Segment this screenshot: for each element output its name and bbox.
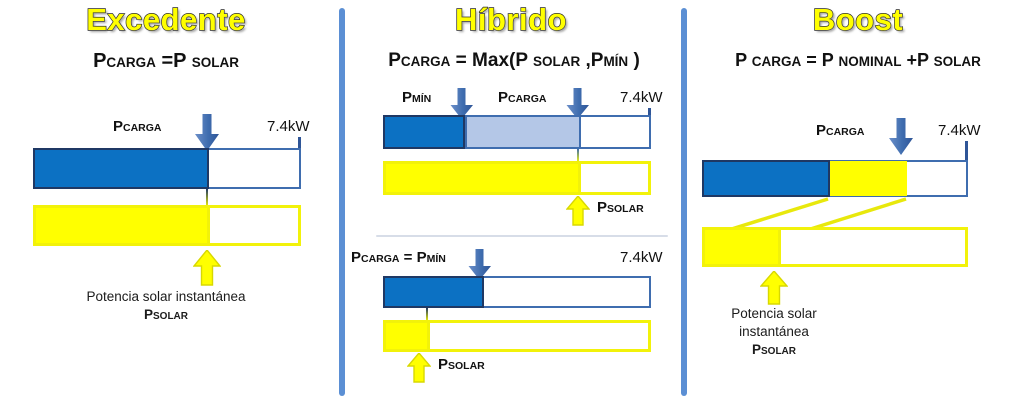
arrow-down-icon-boost xyxy=(888,118,914,156)
caption-psolar-sub: SOLAR xyxy=(153,311,188,322)
label-sub: CARGA xyxy=(508,93,547,105)
label-pcarga-excedente: PCARGA xyxy=(113,118,162,135)
caption-psolar-text: P xyxy=(144,307,153,322)
label-pcarga-hibrido: PCARGA xyxy=(498,89,547,106)
bar-yellow-fill xyxy=(33,205,210,246)
label-text: P xyxy=(113,118,123,135)
bar-bottom-boost xyxy=(702,227,968,267)
formula-mid: = Max(P xyxy=(450,50,533,71)
formula-boost: P CARGA = P NOMINAL +P SOLAR xyxy=(688,50,1028,71)
bar-yellow-fill xyxy=(383,161,581,195)
scale-label-excedente: 7.4kW xyxy=(267,118,310,135)
label-text: P xyxy=(498,89,508,106)
bar-blue-fill xyxy=(33,148,209,189)
arrow-up-icon-hibrido-a xyxy=(566,196,590,226)
arrow-up-icon-hibrido-b xyxy=(407,353,431,383)
eq-tail-sub: MÍN xyxy=(427,253,446,265)
caption-line-2: PSOLAR xyxy=(0,306,332,326)
equation-hibrido-b: PCARGA = PMÍN xyxy=(351,249,446,266)
formula-sub3: SOLAR xyxy=(934,54,981,69)
eq-lead: P xyxy=(351,249,361,266)
bar-blue-fill xyxy=(383,276,484,308)
formula-tail-sub: SOLAR xyxy=(192,55,239,70)
formula-lead-sub: CARGA xyxy=(106,55,156,70)
label-text: P xyxy=(402,89,412,106)
formula-lead: P xyxy=(93,50,106,72)
label-pcarga-boost: PCARGA xyxy=(816,122,865,139)
caption-line-1: Potencia solar xyxy=(686,305,862,323)
panel-title-hibrido: Híbrido xyxy=(346,2,676,38)
formula-lead-sub: CARGA xyxy=(401,54,451,69)
bar-blue-hibrido-b xyxy=(383,276,651,308)
bar-yellow-fill xyxy=(383,320,430,352)
bar-yellow-hibrido-b xyxy=(383,320,651,352)
formula-lead: P xyxy=(388,50,401,71)
formula-tail: ) xyxy=(628,50,640,71)
bar-blue-excedente xyxy=(33,148,301,189)
label-psolar-hibrido-b: PSOLAR xyxy=(438,356,485,373)
panel-divider-left xyxy=(339,8,345,396)
caption-excedente: Potencia solar instantánea PSOLAR xyxy=(0,288,332,326)
label-sub: SOLAR xyxy=(607,203,644,215)
label-sub: CARGA xyxy=(826,126,865,138)
eq-mid: = P xyxy=(400,249,427,266)
bar-bottom-fill xyxy=(702,227,781,267)
label-pmin-hibrido: PMÍN xyxy=(402,89,431,106)
formula-mid2: ,P xyxy=(580,50,603,71)
caption-psolar-sub: SOLAR xyxy=(761,346,796,357)
label-text: P xyxy=(597,199,607,216)
formula-sub2: NOMINAL xyxy=(838,54,901,69)
formula-mid: = P xyxy=(801,50,838,70)
formula-mid2: +P xyxy=(901,50,933,70)
scale-label-hibrido-a: 7.4kW xyxy=(620,89,663,106)
panel-title-excedente: Excedente xyxy=(0,2,332,38)
diagram-canvas: Excedente PCARGA =P SOLAR PCARGA 7.4kW xyxy=(0,0,1030,405)
section-divider-hibrido xyxy=(376,235,668,237)
eq-lead-sub: CARGA xyxy=(361,253,400,265)
formula-sub2: SOLAR xyxy=(533,54,580,69)
caption-line-3: PSOLAR xyxy=(686,341,862,361)
label-text: P xyxy=(438,356,448,373)
arrow-down-icon xyxy=(194,114,220,152)
label-psolar-hibrido-a: PSOLAR xyxy=(597,199,644,216)
caption-line-2: instantánea xyxy=(686,323,862,341)
label-sub: SOLAR xyxy=(448,360,485,372)
formula-lead-sub: CARGA xyxy=(752,54,802,69)
bar-blue-hibrido-a xyxy=(383,115,651,149)
formula-hibrido: PCARGA = Max(P SOLAR ,PMÍN ) xyxy=(346,50,682,72)
caption-line-1: Potencia solar instantánea xyxy=(0,288,332,306)
bar-yellow-excedente xyxy=(33,205,301,246)
formula-mid: =P xyxy=(156,50,192,72)
scale-label-boost: 7.4kW xyxy=(938,122,981,139)
bar-yellow-hibrido-a xyxy=(383,161,651,195)
arrow-up-icon xyxy=(193,250,221,286)
label-text: P xyxy=(816,122,826,139)
scale-label-hibrido-b: 7.4kW xyxy=(620,249,663,266)
label-sub: CARGA xyxy=(123,122,162,134)
caption-psolar-text: P xyxy=(752,342,761,357)
caption-boost: Potencia solar instantánea PSOLAR xyxy=(686,305,862,361)
arrow-up-icon-boost xyxy=(760,271,788,305)
formula-excedente: PCARGA =P SOLAR xyxy=(0,50,332,73)
panel-title-boost: Boost xyxy=(690,2,1026,38)
bar-blue-pcarga-fill xyxy=(465,115,581,149)
formula-sub3: MÍN xyxy=(603,54,628,69)
label-sub: MÍN xyxy=(412,93,431,105)
bar-blue-pmin-fill xyxy=(383,115,465,149)
formula-lead: P xyxy=(735,50,752,70)
